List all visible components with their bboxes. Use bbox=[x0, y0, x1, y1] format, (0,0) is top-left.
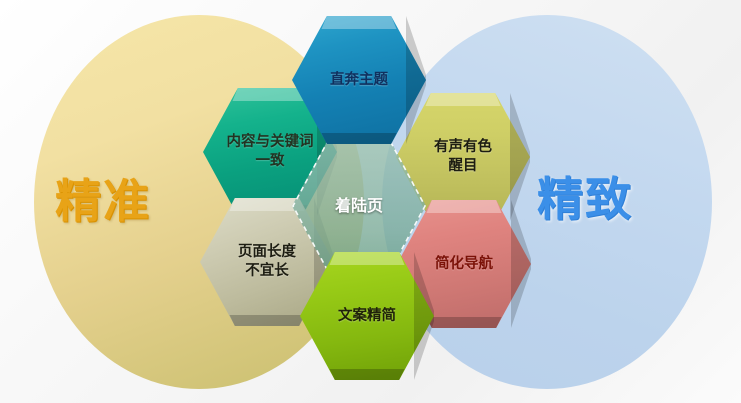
hexagon-cluster: 内容与关键词 一致 有声有色 醒目 页面长度 不宜长 简化导航 bbox=[0, 0, 741, 403]
hexagon-bottom-bevel bbox=[292, 133, 426, 144]
hexagon-top-bevel bbox=[292, 16, 426, 29]
hexagon-face bbox=[292, 142, 426, 270]
hexagon-right-bevel bbox=[511, 200, 531, 328]
hexagon-right-bevel bbox=[406, 16, 426, 144]
hexagon-bottom-bevel bbox=[300, 369, 434, 380]
hexagon-concise-copy[interactable]: 文案精简 bbox=[300, 252, 434, 380]
hexagon-face bbox=[300, 252, 434, 380]
hexagon-right-bevel bbox=[414, 252, 434, 380]
diagram-canvas: 精准 精致 内容与关键词 一致 有声有色 醒目 页面长度 不宜长 bbox=[0, 0, 741, 403]
hexagon-face bbox=[292, 16, 426, 144]
hexagon-straight-to-the-point[interactable]: 直奔主题 bbox=[292, 16, 426, 144]
hexagon-landing-page-center[interactable]: 着陆页 bbox=[292, 142, 426, 270]
hexagon-top-bevel bbox=[300, 252, 434, 265]
